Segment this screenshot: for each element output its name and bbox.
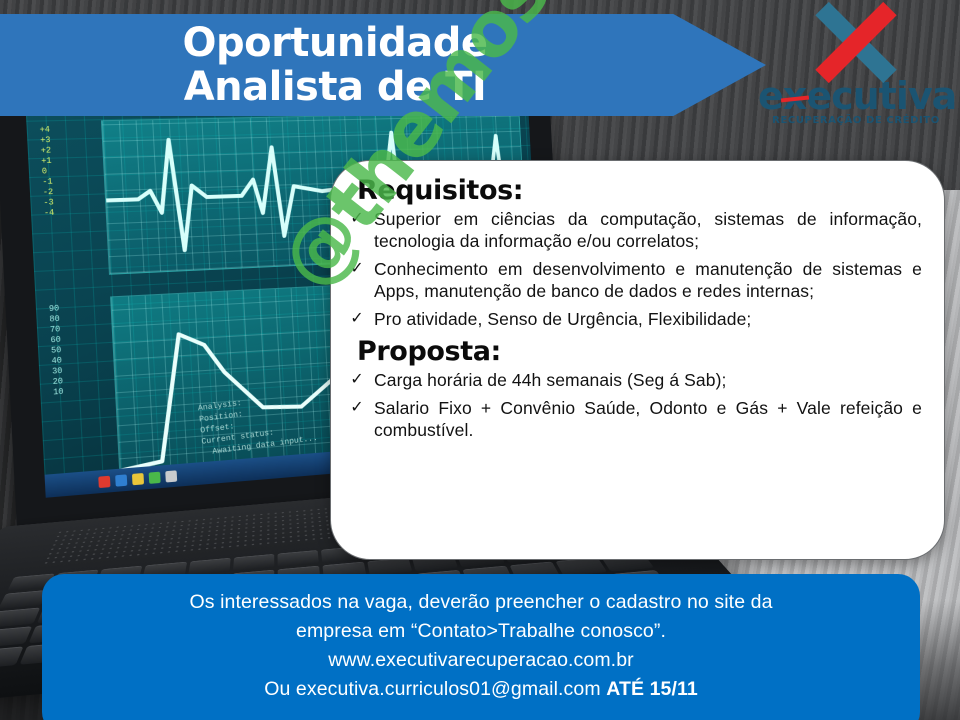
page-title: Oportunidade Analista de TI [182,21,487,109]
header-banner: Oportunidade Analista de TI [0,14,766,116]
check-icon: ✓ [349,397,365,419]
footer-line-2: empresa em “Contato>Trabalhe conosco”. [70,617,892,646]
proposal-text: Carga horária de 44h semanais (Seg á Sab… [374,369,922,391]
check-icon: ✓ [349,308,365,330]
logo-x-mark-icon [796,6,916,78]
requirement-text: Conhecimento em desenvolvimento e manute… [374,258,922,302]
requirement-text: Superior em ciências da computação, sist… [374,208,922,252]
taskbar-dot-grey [165,470,177,482]
check-icon: ✓ [349,369,365,391]
banner-line-1: Oportunidade [182,21,487,65]
list-item: ✓ Conhecimento em desenvolvimento e manu… [349,258,922,302]
footer-email-line[interactable]: Ou executiva.curriculos01@gmail.com ATÉ … [70,675,892,704]
requirements-list: ✓ Superior em ciências da computação, si… [349,208,922,330]
list-item: ✓ Carga horária de 44h semanais (Seg á S… [349,369,922,391]
logo-word-struck: x [783,74,807,118]
check-icon: ✓ [349,258,365,280]
requirements-heading: Requisitos: [357,175,922,206]
banner-line-2: Analista de TI [182,65,487,109]
footer-line-1: Os interessados na vaga, deverão preench… [70,588,892,617]
screen-ruler-top: +4+3+2+10 -1-2-3-4 [39,124,101,219]
taskbar-dot-blue [115,474,127,486]
job-poster: Blood Pressure +4+3+2+10 -1-2-3-4 908070… [0,0,960,720]
logo-word-pre: e [758,74,783,118]
footer-deadline: ATÉ 15/11 [606,678,698,700]
logo-wordmark: executiva [758,78,954,114]
company-logo: executiva RECUPERAÇÃO DE CRÉDITO [758,6,954,136]
details-card: Requisitos: ✓ Superior em ciências da co… [330,160,945,560]
proposal-text: Salario Fixo + Convênio Saúde, Odonto e … [374,397,922,441]
taskbar-dot-green [149,471,161,483]
footer-website[interactable]: www.executivarecuperacao.com.br [70,646,892,675]
footer-email[interactable]: Ou executiva.curriculos01@gmail.com [264,678,606,700]
list-item: ✓ Salario Fixo + Convênio Saúde, Odonto … [349,397,922,441]
requirement-text: Pro atividade, Senso de Urgência, Flexib… [374,308,922,330]
proposal-heading: Proposta: [357,336,922,367]
list-item: ✓ Superior em ciências da computação, si… [349,208,922,252]
taskbar-dot-red [98,475,110,487]
contact-footer: Os interessados na vaga, deverão preench… [42,574,920,720]
screen-ruler-bottom: 9080706050 40302010 [49,302,111,399]
proposal-list: ✓ Carga horária de 44h semanais (Seg á S… [349,369,922,441]
taskbar-dot-yellow [132,472,144,484]
list-item: ✓ Pro atividade, Senso de Urgência, Flex… [349,308,922,330]
check-icon: ✓ [349,208,365,230]
